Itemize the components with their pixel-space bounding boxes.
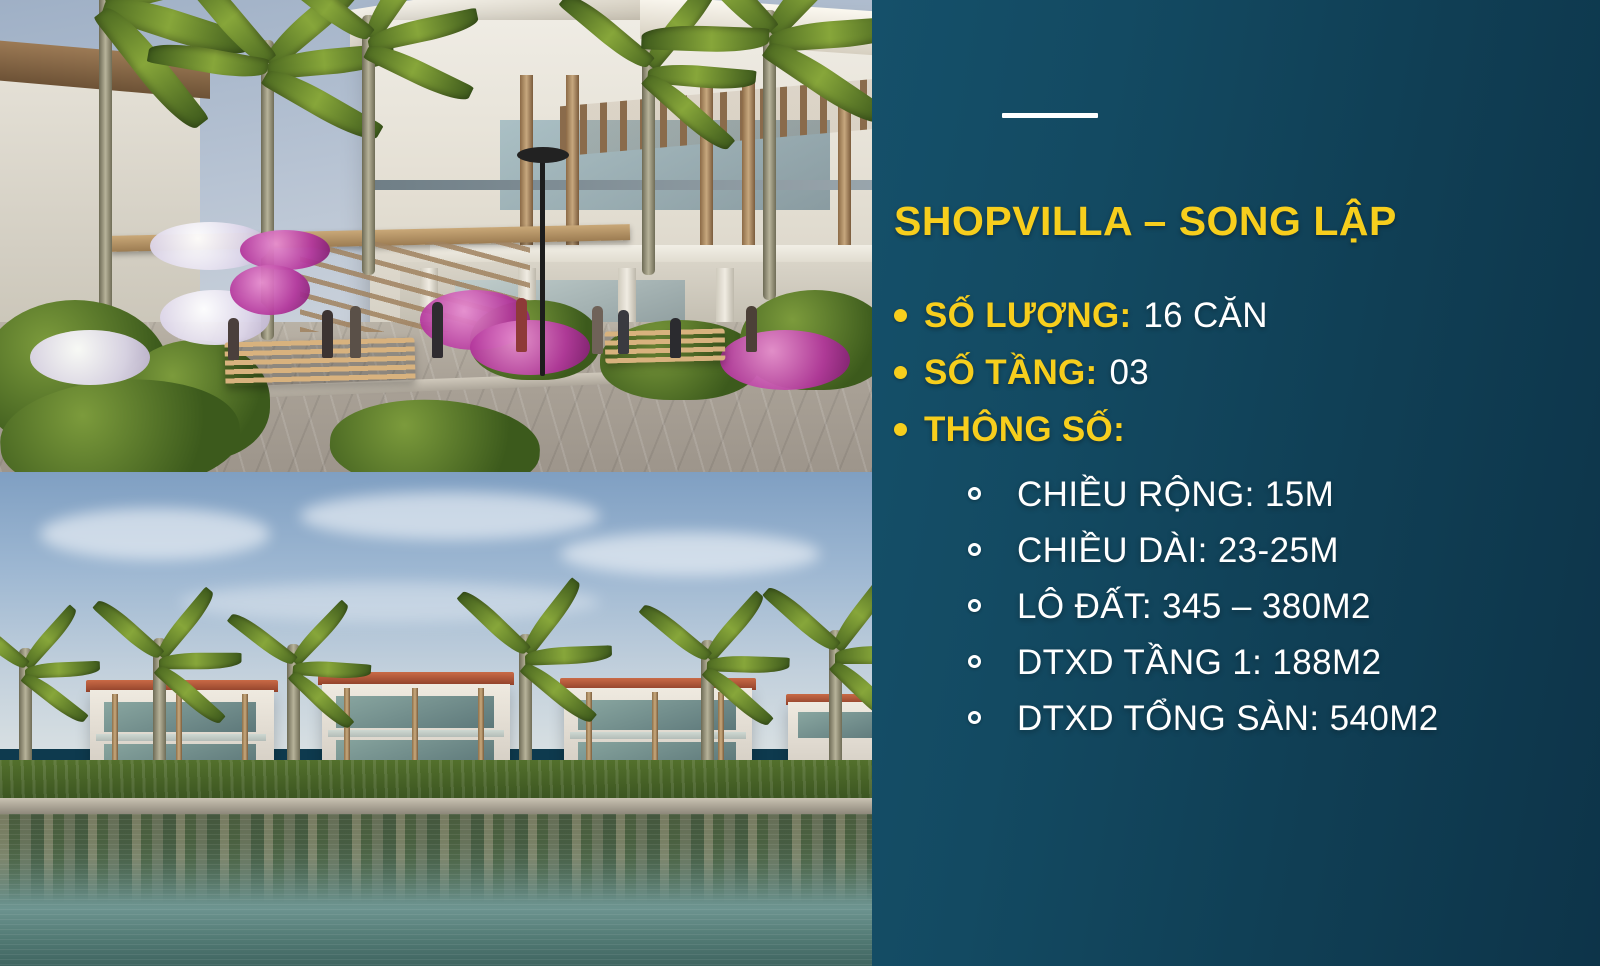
- cloud: [560, 532, 820, 576]
- flower-cluster: [30, 330, 150, 385]
- bullet-ring-icon: [968, 599, 981, 612]
- sub-spec-row-total-floor-area: DTXD TỔNG SÀN: 540M2: [968, 699, 1600, 755]
- sub-spec-row-length: CHIỀU DÀI: 23-25M: [968, 531, 1600, 587]
- sub-spec-text: CHIỀU DÀI: 23-25M: [1017, 531, 1339, 571]
- image-gallery: [0, 0, 872, 966]
- info-panel: SHOPVILLA – SONG LẬP SỐ LƯỢNG: 16 CĂN SỐ…: [872, 0, 1600, 966]
- bullet-ring-icon: [968, 543, 981, 556]
- sub-spec-list: CHIỀU RỘNG: 15M CHIỀU DÀI: 23-25M LÔ ĐẤT…: [968, 475, 1600, 755]
- flower-cluster: [720, 330, 850, 390]
- spec-row-floors: SỐ TẦNG: 03: [894, 353, 1594, 408]
- sub-spec-row-land-lot: LÔ ĐẤT: 345 – 380M2: [968, 587, 1600, 643]
- palm-tree: [760, 10, 778, 300]
- slide-root: SHOPVILLA – SONG LẬP SỐ LƯỢNG: 16 CĂN SỐ…: [0, 0, 1600, 966]
- title-divider-rule: [1002, 113, 1098, 118]
- bullet-ring-icon: [968, 711, 981, 724]
- sub-spec-text: DTXD TẦNG 1: 188M2: [1017, 643, 1381, 683]
- shoreline-texture: [0, 760, 872, 802]
- pedestrian: [746, 306, 757, 352]
- pedestrian: [618, 310, 629, 354]
- spec-key: SỐ TẦNG:: [924, 353, 1098, 393]
- pedestrian: [228, 318, 239, 360]
- spec-key: THÔNG SỐ:: [924, 410, 1125, 450]
- flower-cluster: [240, 230, 330, 270]
- spec-key: SỐ LƯỢNG:: [924, 296, 1131, 336]
- sub-spec-text: CHIỀU RỘNG: 15M: [1017, 475, 1334, 515]
- palm-frond: [159, 653, 242, 670]
- photo-shopvilla-lakeside-view[interactable]: [0, 472, 872, 966]
- spec-list: SỐ LƯỢNG: 16 CĂN SỐ TẦNG: 03 THÔNG SỐ:: [894, 296, 1594, 467]
- bullet-dot-icon: [894, 423, 907, 436]
- flower-cluster: [230, 265, 310, 315]
- spec-value: 16 CĂN: [1143, 296, 1267, 336]
- pedestrian: [592, 306, 603, 354]
- sub-spec-text: DTXD TỔNG SÀN: 540M2: [1017, 699, 1439, 739]
- sub-spec-text: LÔ ĐẤT: 345 – 380M2: [1017, 587, 1371, 627]
- page-title: SHOPVILLA – SONG LẬP: [894, 198, 1584, 245]
- palm-frond: [641, 24, 769, 54]
- palm-tree: [640, 45, 656, 275]
- spec-row-quantity: SỐ LƯỢNG: 16 CĂN: [894, 296, 1594, 351]
- spec-value: 03: [1110, 353, 1150, 393]
- sub-spec-row-width: CHIỀU RỘNG: 15M: [968, 475, 1600, 531]
- pedestrian: [350, 306, 361, 358]
- palm-tree: [360, 15, 376, 275]
- bullet-ring-icon: [968, 487, 981, 500]
- floor-band: [372, 180, 872, 190]
- water-ripples: [0, 814, 872, 966]
- pedestrian: [516, 298, 527, 352]
- street-lamp: [540, 158, 545, 376]
- spec-row-parameters: THÔNG SỐ:: [894, 410, 1594, 465]
- pedestrian: [432, 302, 443, 358]
- bullet-dot-icon: [894, 309, 907, 322]
- cloud: [40, 508, 270, 560]
- pedestrian: [670, 318, 681, 358]
- cloud: [180, 582, 600, 622]
- photo-shopvilla-street-view[interactable]: [0, 0, 872, 472]
- cloud: [300, 492, 600, 540]
- sub-spec-row-floor1-area: DTXD TẦNG 1: 188M2: [968, 643, 1600, 699]
- park-bench: [224, 338, 415, 387]
- bullet-ring-icon: [968, 655, 981, 668]
- pedestrian: [322, 310, 333, 358]
- lake-edge-wall: [0, 798, 872, 814]
- bullet-dot-icon: [894, 366, 907, 379]
- flower-cluster: [470, 320, 590, 375]
